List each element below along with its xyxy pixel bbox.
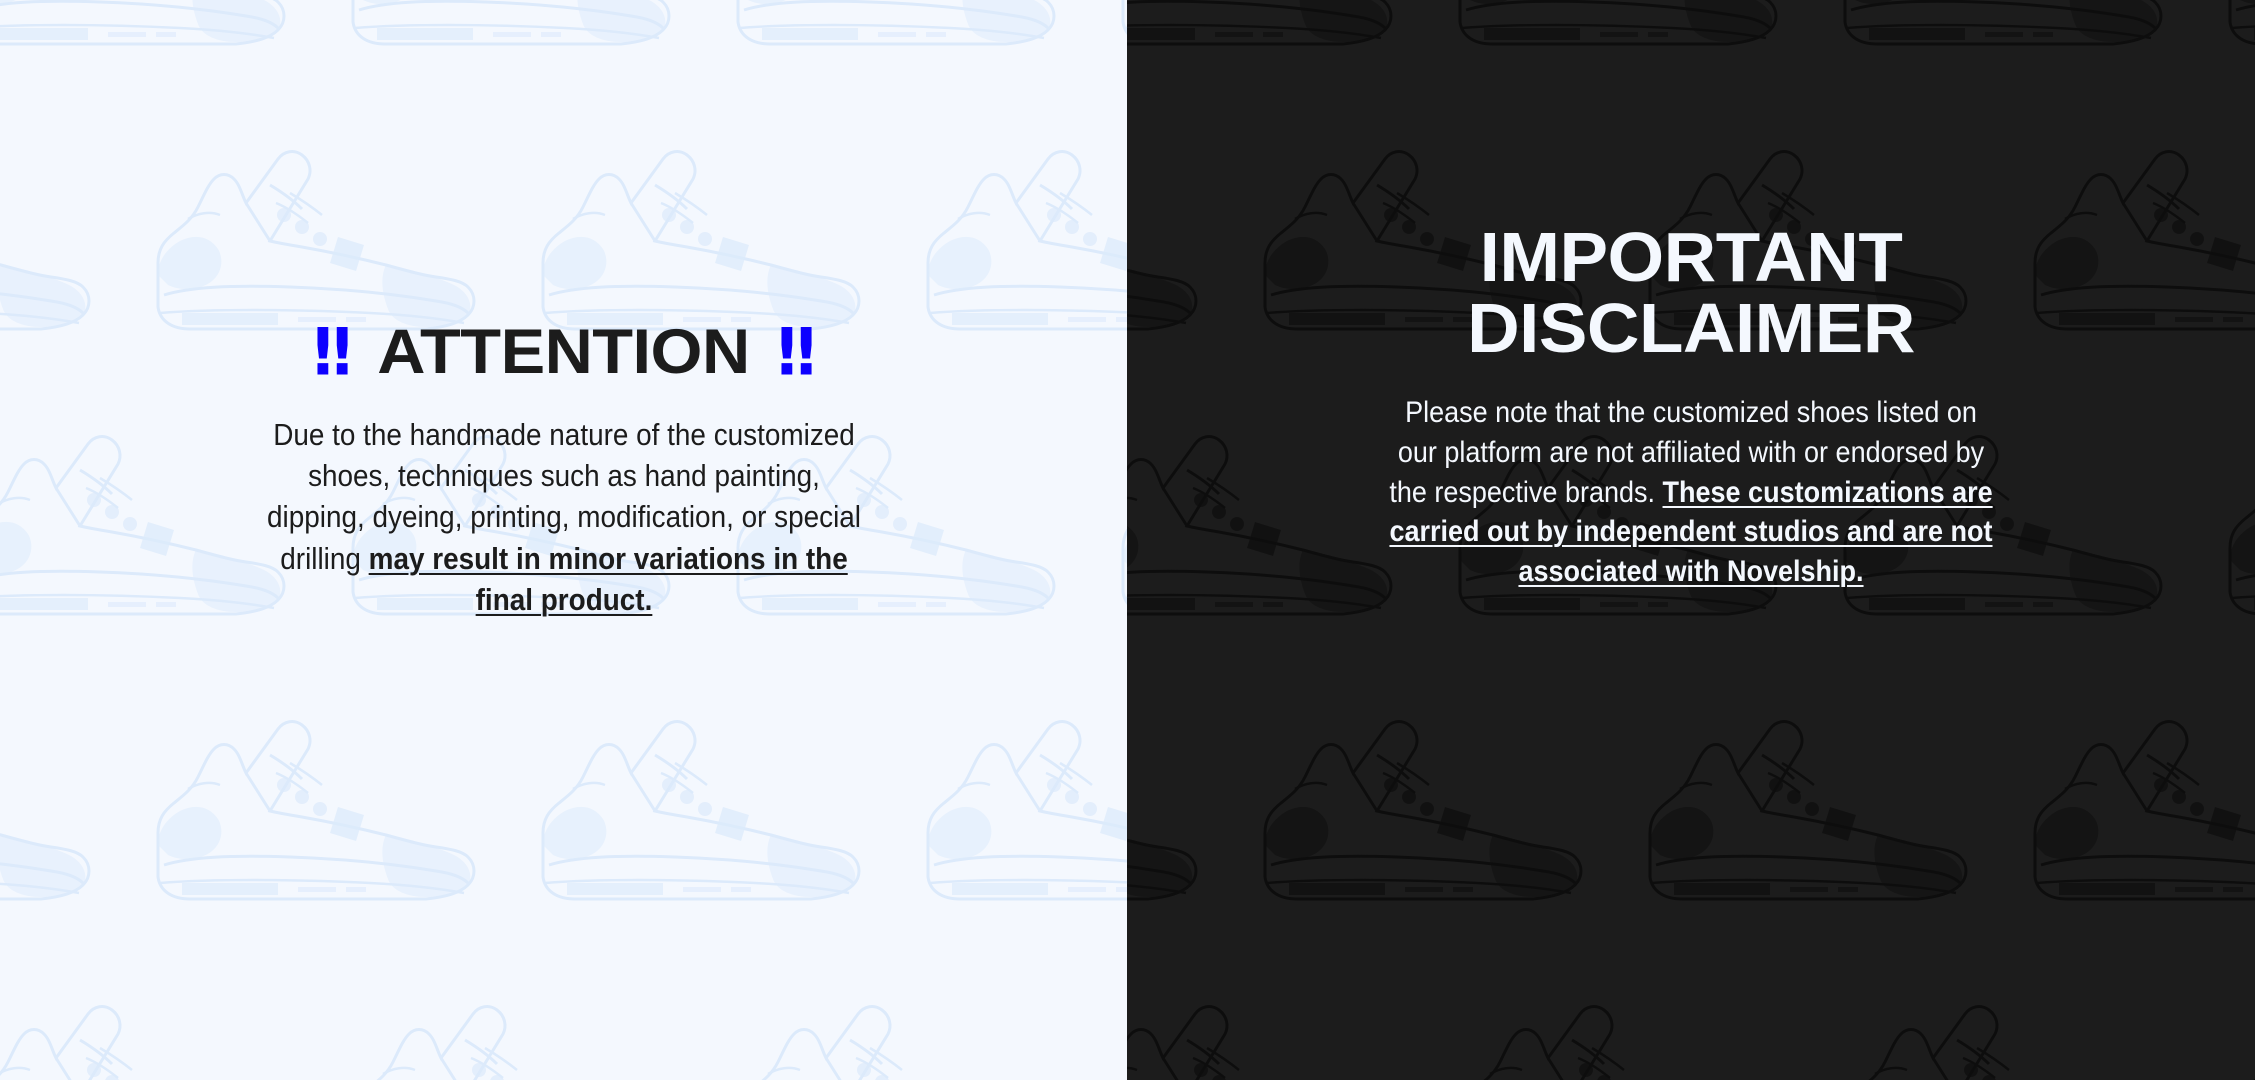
disclaimer-content: IMPORTANT DISCLAIMER Please note that th… <box>1127 222 2255 592</box>
attention-panel: ‼ ATTENTION ‼ Due to the handmade nature… <box>0 0 1127 1080</box>
disclaimer-heading: IMPORTANT DISCLAIMER <box>1146 222 2236 365</box>
disclaimer-heading-line1: IMPORTANT <box>1146 222 2236 293</box>
double-exclamation-icon-right: ‼ <box>777 322 813 384</box>
attention-body-emphasis: may result in minor variations in the fi… <box>368 541 847 617</box>
disclaimer-panel: IMPORTANT DISCLAIMER Please note that th… <box>1127 0 2255 1080</box>
attention-heading: ‼ ATTENTION ‼ <box>9 323 1119 383</box>
double-exclamation-icon-left: ‼ <box>313 322 349 384</box>
promo-banner: ‼ ATTENTION ‼ Due to the handmade nature… <box>0 0 2255 1080</box>
attention-content: ‼ ATTENTION ‼ Due to the handmade nature… <box>0 323 1127 620</box>
attention-body: Due to the handmade nature of the custom… <box>267 414 861 620</box>
disclaimer-body: Please note that the customized shoes li… <box>1385 393 1997 592</box>
disclaimer-heading-line2: DISCLAIMER <box>1146 293 2236 364</box>
attention-heading-word: ATTENTION <box>377 323 749 383</box>
